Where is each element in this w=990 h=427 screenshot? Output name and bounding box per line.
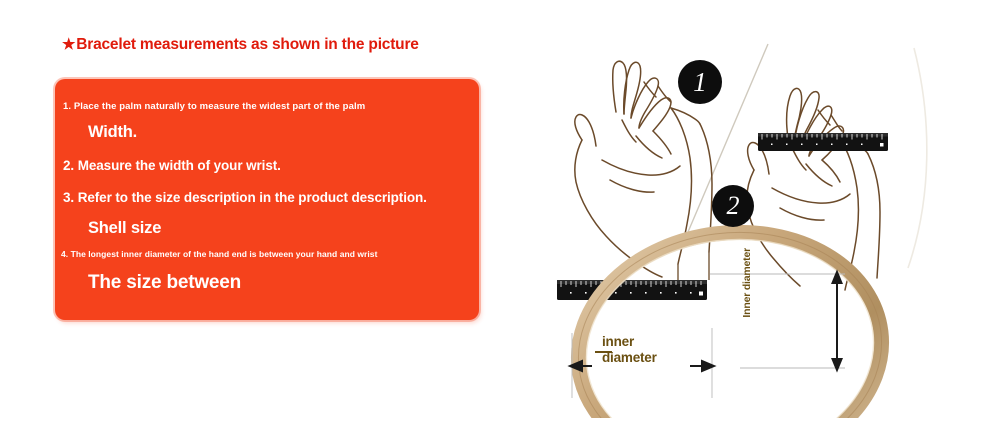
- ruler-1-main: [557, 280, 707, 300]
- background-arc: [908, 48, 927, 268]
- page-title: ★Bracelet measurements as shown in the p…: [62, 35, 419, 54]
- instruction-step-1: 1. Place the palm naturally to measure t…: [63, 101, 365, 112]
- instructions-panel: 1. Place the palm naturally to measure t…: [55, 79, 479, 320]
- inner-diameter-vertical-arrow: [833, 272, 842, 370]
- instruction-step-2: 2. Measure the width of your wrist.: [63, 158, 281, 173]
- bracelet-ring: [565, 215, 895, 418]
- instruction-step-3-detail: Shell size: [88, 219, 161, 238]
- page-title-text: Bracelet measurements as shown in the pi…: [76, 36, 418, 53]
- step-badge-1: 1: [678, 60, 722, 104]
- step-badge-2: 2: [712, 185, 754, 227]
- instruction-step-4-detail: The size between: [88, 272, 241, 294]
- ruler-two: [758, 133, 888, 151]
- instruction-step-1-detail: Width.: [88, 123, 137, 142]
- instruction-step-3: 3. Refer to the size description in the …: [63, 190, 427, 205]
- inner-diameter-label-line2: diameter: [602, 350, 657, 366]
- size-guide-page: ★Bracelet measurements as shown in the p…: [0, 0, 990, 427]
- inner-diameter-horizontal-label: inner diameter: [602, 334, 657, 366]
- star-icon: ★: [62, 36, 75, 53]
- hand-illustration-wrist: [747, 88, 880, 290]
- inner-diameter-label-line1: inner: [602, 334, 657, 350]
- ruler-1-body: [558, 180, 559, 181]
- inner-diameter-vertical-label: Inner diameter: [742, 248, 753, 318]
- ruler-horizontal-1: [558, 180, 559, 181]
- instruction-step-4: 4. The longest inner diameter of the han…: [61, 249, 377, 259]
